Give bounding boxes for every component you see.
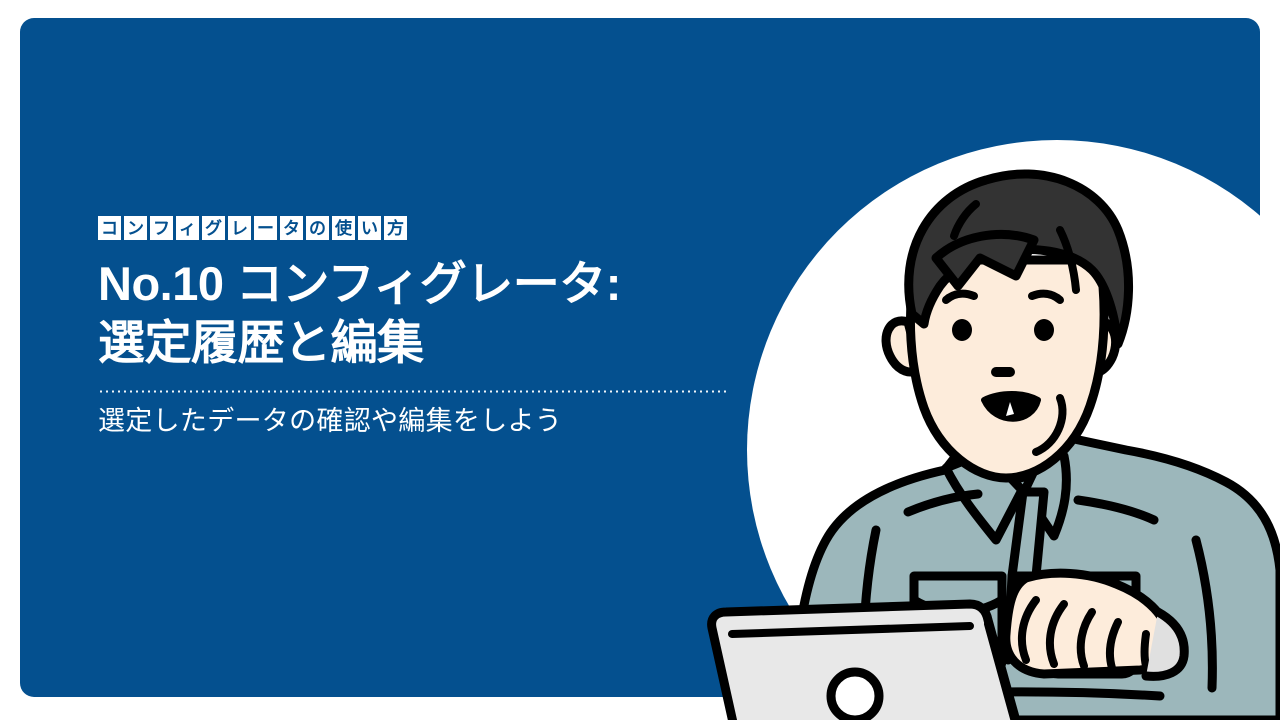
banner-text-block: コ ン フ ィ グ レ ー タ の 使 い 方 No.10 コンフィグレータ: … — [98, 216, 758, 440]
dotted-divider — [98, 390, 730, 393]
eyebrow-char: グ — [202, 216, 225, 240]
eyebrow-char: ィ — [176, 216, 199, 240]
banner-panel: コ ン フ ィ グ レ ー タ の 使 い 方 No.10 コンフィグレータ: … — [20, 18, 1260, 697]
page-subtitle: 選定したデータの確認や編集をしよう — [98, 404, 758, 439]
eyebrow-label: コ ン フ ィ グ レ ー タ の 使 い 方 — [98, 216, 758, 240]
illustration-circle-backdrop — [747, 140, 1260, 697]
eyebrow-char: ン — [124, 216, 147, 240]
page-title: No.10 コンフィグレータ: 選定履歴と編集 — [98, 254, 758, 372]
eyebrow-char: い — [358, 216, 381, 240]
eyebrow-char: の — [306, 216, 329, 240]
eyebrow-char: 方 — [384, 216, 407, 240]
banner-root: コ ン フ ィ グ レ ー タ の 使 い 方 No.10 コンフィグレータ: … — [0, 0, 1280, 720]
eyebrow-char: コ — [98, 216, 121, 240]
eyebrow-char: フ — [150, 216, 173, 240]
eyebrow-char: タ — [280, 216, 303, 240]
eyebrow-char: 使 — [332, 216, 355, 240]
eyebrow-char: ー — [254, 216, 277, 240]
eyebrow-char: レ — [228, 216, 251, 240]
